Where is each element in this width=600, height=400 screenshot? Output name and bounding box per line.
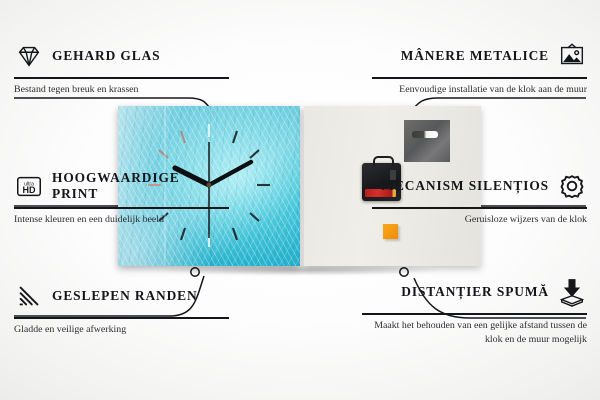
press-down-icon [557, 277, 587, 307]
svg-text:HD: HD [23, 185, 36, 195]
feature-edges-head: GESLEPEN RANDEN [14, 276, 229, 316]
feature-mechanism-title: MECANISM SILENȚIOS [381, 178, 549, 194]
feature-handles-subtitle: Eenvoudige installatie van de klok aan d… [372, 83, 587, 97]
tick-10 [159, 150, 168, 158]
feature-edges-subtitle: Gladde en veilige afwerking [14, 323, 229, 337]
feature-mechanism: MECANISM SILENȚIOS Geruisloze wijzers va… [372, 166, 587, 227]
feature-spacer-subtitle: Maakt het behouden van een gelijke afsta… [362, 319, 587, 347]
feature-mechanism-subtitle: Geruisloze wijzers van de klok [372, 213, 587, 227]
feature-edges-title: GESLEPEN RANDEN [52, 288, 198, 304]
feature-glass-subtitle: Bestand tegen breuk en krassen [14, 83, 229, 97]
feature-print: ultra HD HOOGWAARDIGE PRINT Intense kleu… [14, 166, 229, 227]
feature-handles: MÂNERE METALICE Eenvoudige installatie v… [372, 36, 587, 97]
infographic-canvas: GEHARD GLAS Bestand tegen breuk en krass… [0, 0, 600, 400]
ultra-hd-icon: ultra HD [14, 171, 44, 201]
feature-glass-rule [14, 77, 229, 79]
feature-print-title: HOOGWAARDIGE PRINT [52, 170, 229, 202]
feature-print-rule [14, 207, 229, 209]
feature-spacer: DISTANȚIER SPUMĂ Maakt het behouden van … [362, 272, 587, 347]
feature-print-head: ultra HD HOOGWAARDIGE PRINT [14, 166, 229, 206]
feature-spacer-head: DISTANȚIER SPUMĂ [362, 272, 587, 312]
feature-mechanism-head: MECANISM SILENȚIOS [372, 166, 587, 206]
bevel-lines-icon [14, 281, 44, 311]
feature-spacer-rule [362, 313, 587, 315]
tick-5 [233, 228, 237, 240]
feature-mechanism-rule [372, 207, 587, 209]
tick-4 [250, 213, 259, 221]
picture-frame-icon [557, 41, 587, 71]
feature-handles-rule [372, 77, 587, 79]
feature-handles-title: MÂNERE METALICE [401, 48, 549, 64]
tick-2 [250, 150, 259, 158]
metal-hanger-plate [404, 120, 450, 162]
feature-handles-head: MÂNERE METALICE [372, 36, 587, 76]
tick-7 [181, 228, 185, 240]
feature-edges-rule [14, 317, 229, 319]
tick-1 [233, 131, 237, 143]
feature-glass-title: GEHARD GLAS [52, 48, 161, 64]
gear-icon [557, 171, 587, 201]
feature-spacer-title: DISTANȚIER SPUMĂ [401, 284, 549, 300]
feature-glass: GEHARD GLAS Bestand tegen breuk en krass… [14, 36, 229, 97]
feature-edges: GESLEPEN RANDEN Gladde en veilige afwerk… [14, 276, 229, 337]
feature-glass-head: GEHARD GLAS [14, 36, 229, 76]
tick-11 [181, 131, 185, 143]
hanger-slot [412, 131, 438, 138]
feature-print-subtitle: Intense kleuren en een duidelijk beeld [14, 213, 229, 227]
diamond-icon [14, 41, 44, 71]
